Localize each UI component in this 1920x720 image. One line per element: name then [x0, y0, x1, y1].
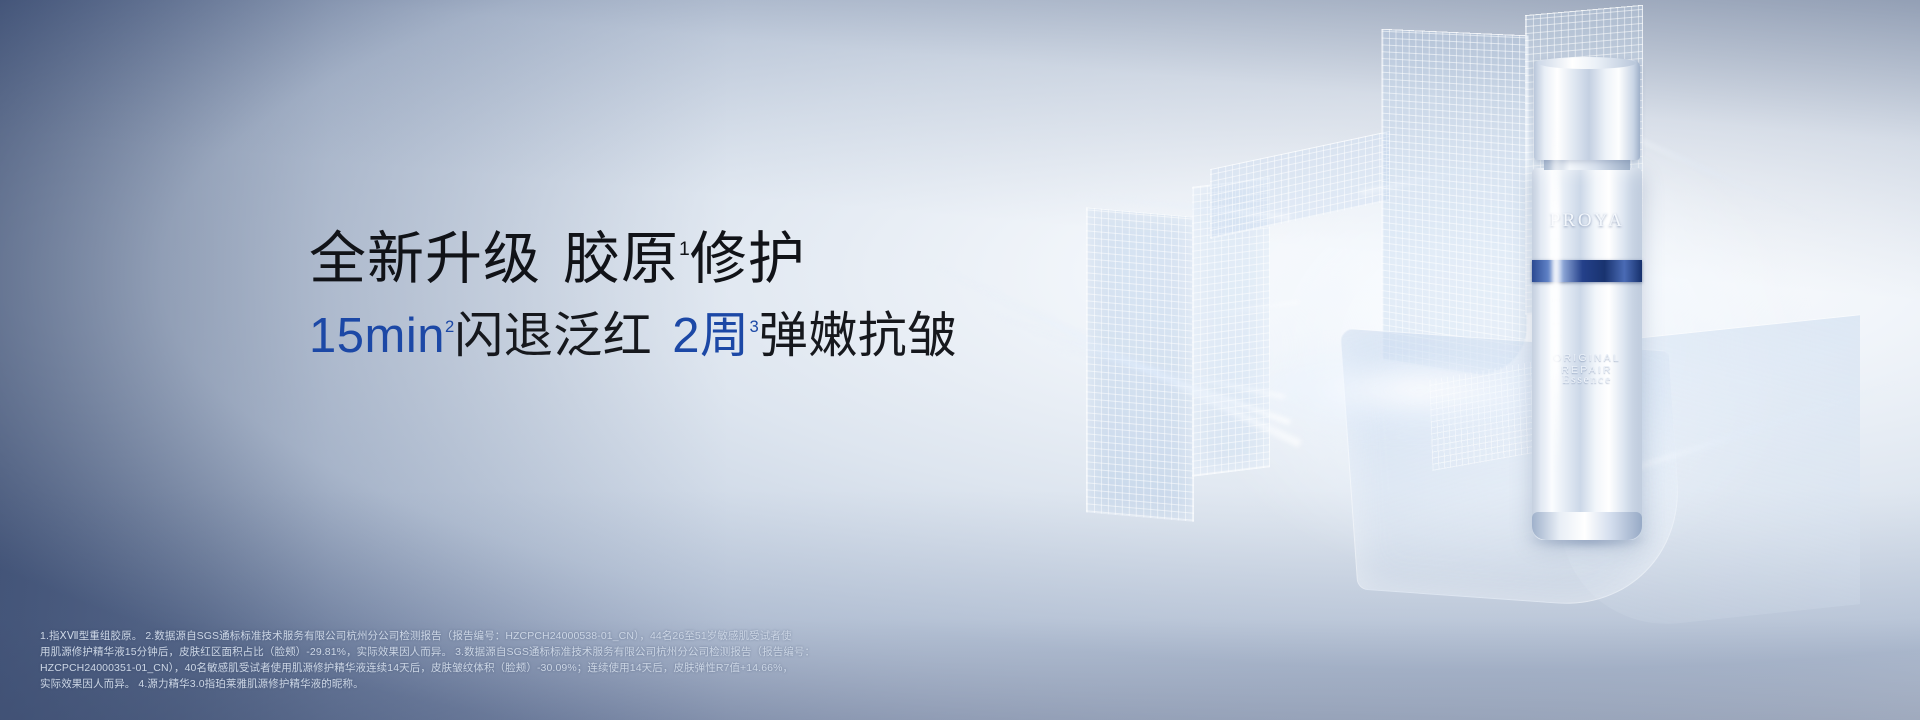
footnote-line-3: HZCPCH24000351-01_CN），40名敏感肌受试者使用肌源修护精华液…	[40, 661, 860, 677]
promotional-banner: PROYA ORIGINAL REPAIR Essence 全新升级胶原1修护 …	[0, 0, 1920, 720]
subheadline-benefit-1: 闪退泛红	[454, 309, 652, 363]
subheadline-metric-2: 2周	[672, 309, 749, 363]
subheadline: 15min2闪退泛红2周3弹嫩抗皱	[309, 310, 1069, 364]
footnote-line-1: 1.指ⅩⅦ型重组胶原。 2.数据源自SGS通标标准技术服务有限公司杭州分公司检测…	[40, 629, 860, 645]
headline: 全新升级胶原1修护	[309, 228, 1069, 292]
subheadline-footnote-marker-2: 2	[445, 317, 454, 336]
footnotes: 1.指ⅩⅦ型重组胶原。 2.数据源自SGS通标标准技术服务有限公司杭州分公司检测…	[40, 629, 860, 693]
bottle-highlight	[1552, 120, 1560, 470]
bottle-cap-top	[1538, 57, 1636, 69]
footnote-line-2: 用肌源修护精华液15分钟后，皮肤红区面积占比（脸颊）-29.81%，实际效果因人…	[40, 645, 860, 661]
subheadline-metric-1: 15min	[309, 309, 445, 363]
footnote-line-4: 实际效果因人而异。 4.源力精华3.0指珀莱雅肌源修护精华液的昵称。	[40, 677, 860, 693]
headline-footnote-marker-1: 1	[679, 238, 690, 260]
headline-part-1: 全新升级	[309, 227, 541, 291]
bottle-product-type: Essence	[1528, 372, 1646, 387]
headline-part-3: 修护	[690, 227, 806, 291]
bottle-blue-band	[1532, 260, 1642, 282]
bottle-base	[1532, 512, 1642, 540]
bottle-brand-label: PROYA	[1528, 210, 1646, 232]
headline-part-2: 胶原	[563, 227, 679, 291]
subheadline-footnote-marker-3: 3	[750, 317, 759, 336]
product-bottle: PROYA ORIGINAL REPAIR Essence	[1528, 60, 1646, 540]
subheadline-benefit-2: 弹嫩抗皱	[759, 309, 957, 363]
bottle-cap	[1534, 60, 1640, 160]
marketing-copy: 全新升级胶原1修护 15min2闪退泛红2周3弹嫩抗皱	[309, 228, 1069, 364]
